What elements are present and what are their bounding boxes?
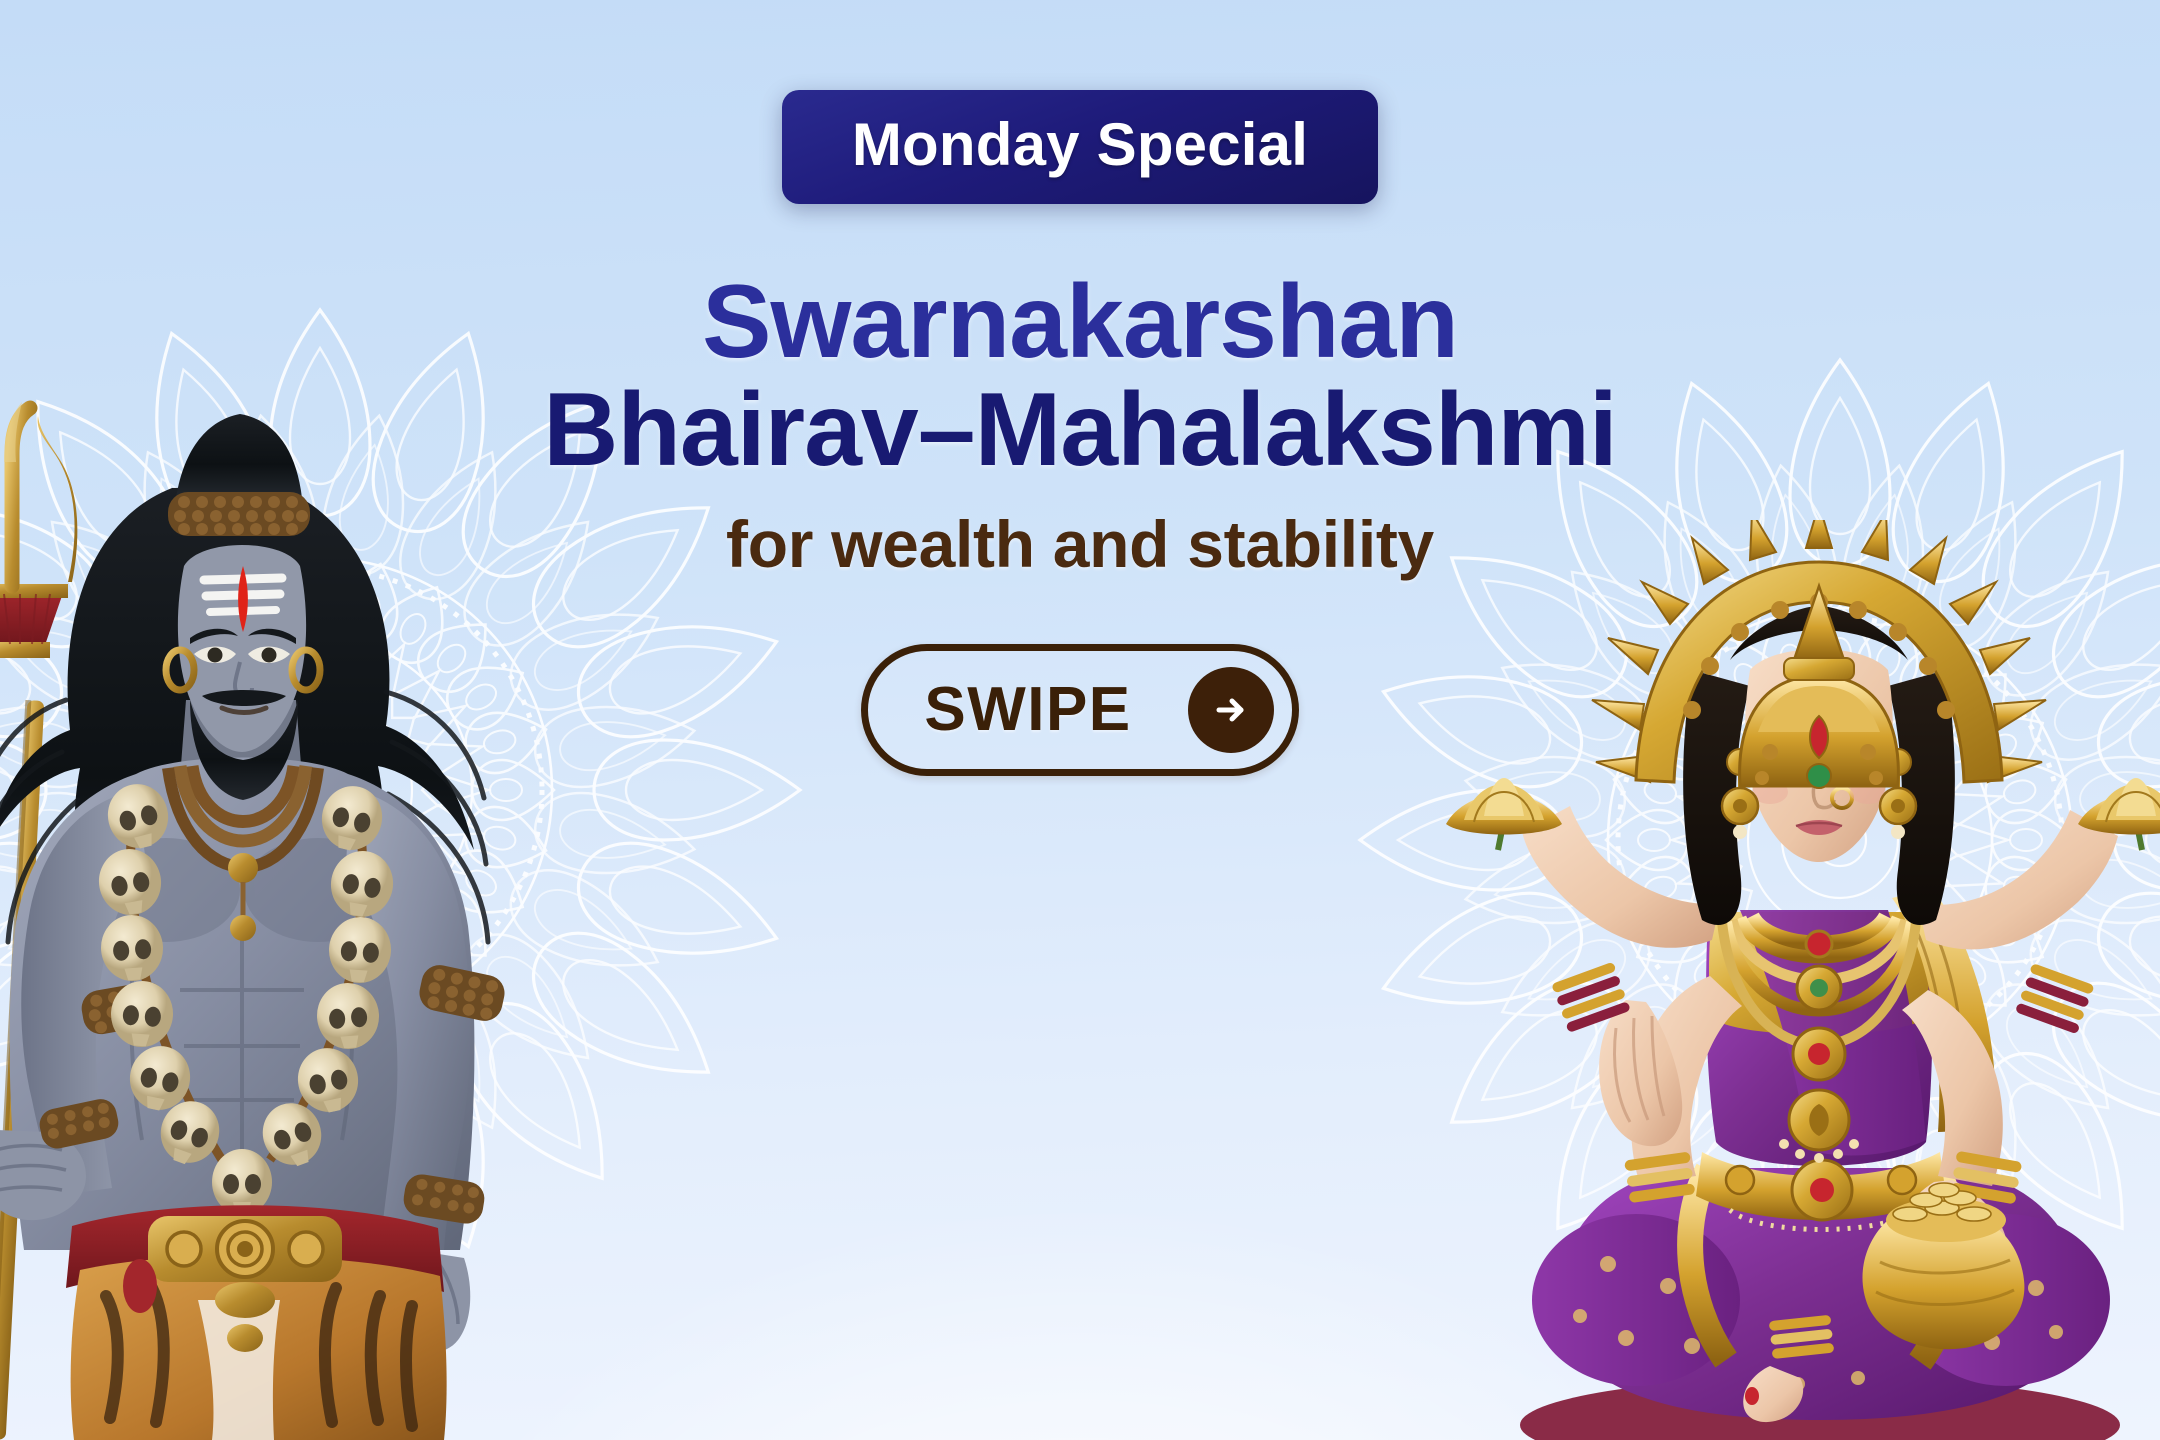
promo-banner: Monday Special Swarnakarshan Bhairav–Mah…	[0, 0, 2160, 1440]
page-title-line-1: Swarnakarshan	[543, 268, 1617, 376]
page-title-line-2: Bhairav–Mahalakshmi	[543, 376, 1617, 484]
monday-special-badge: Monday Special	[782, 90, 1378, 204]
swipe-button[interactable]: SWIPE	[861, 644, 1298, 776]
page-subtitle: for wealth and stability	[726, 506, 1434, 582]
swipe-button-label: SWIPE	[924, 679, 1131, 741]
arrow-right-icon	[1188, 667, 1274, 753]
page-title: Swarnakarshan Bhairav–Mahalakshmi	[543, 268, 1617, 484]
